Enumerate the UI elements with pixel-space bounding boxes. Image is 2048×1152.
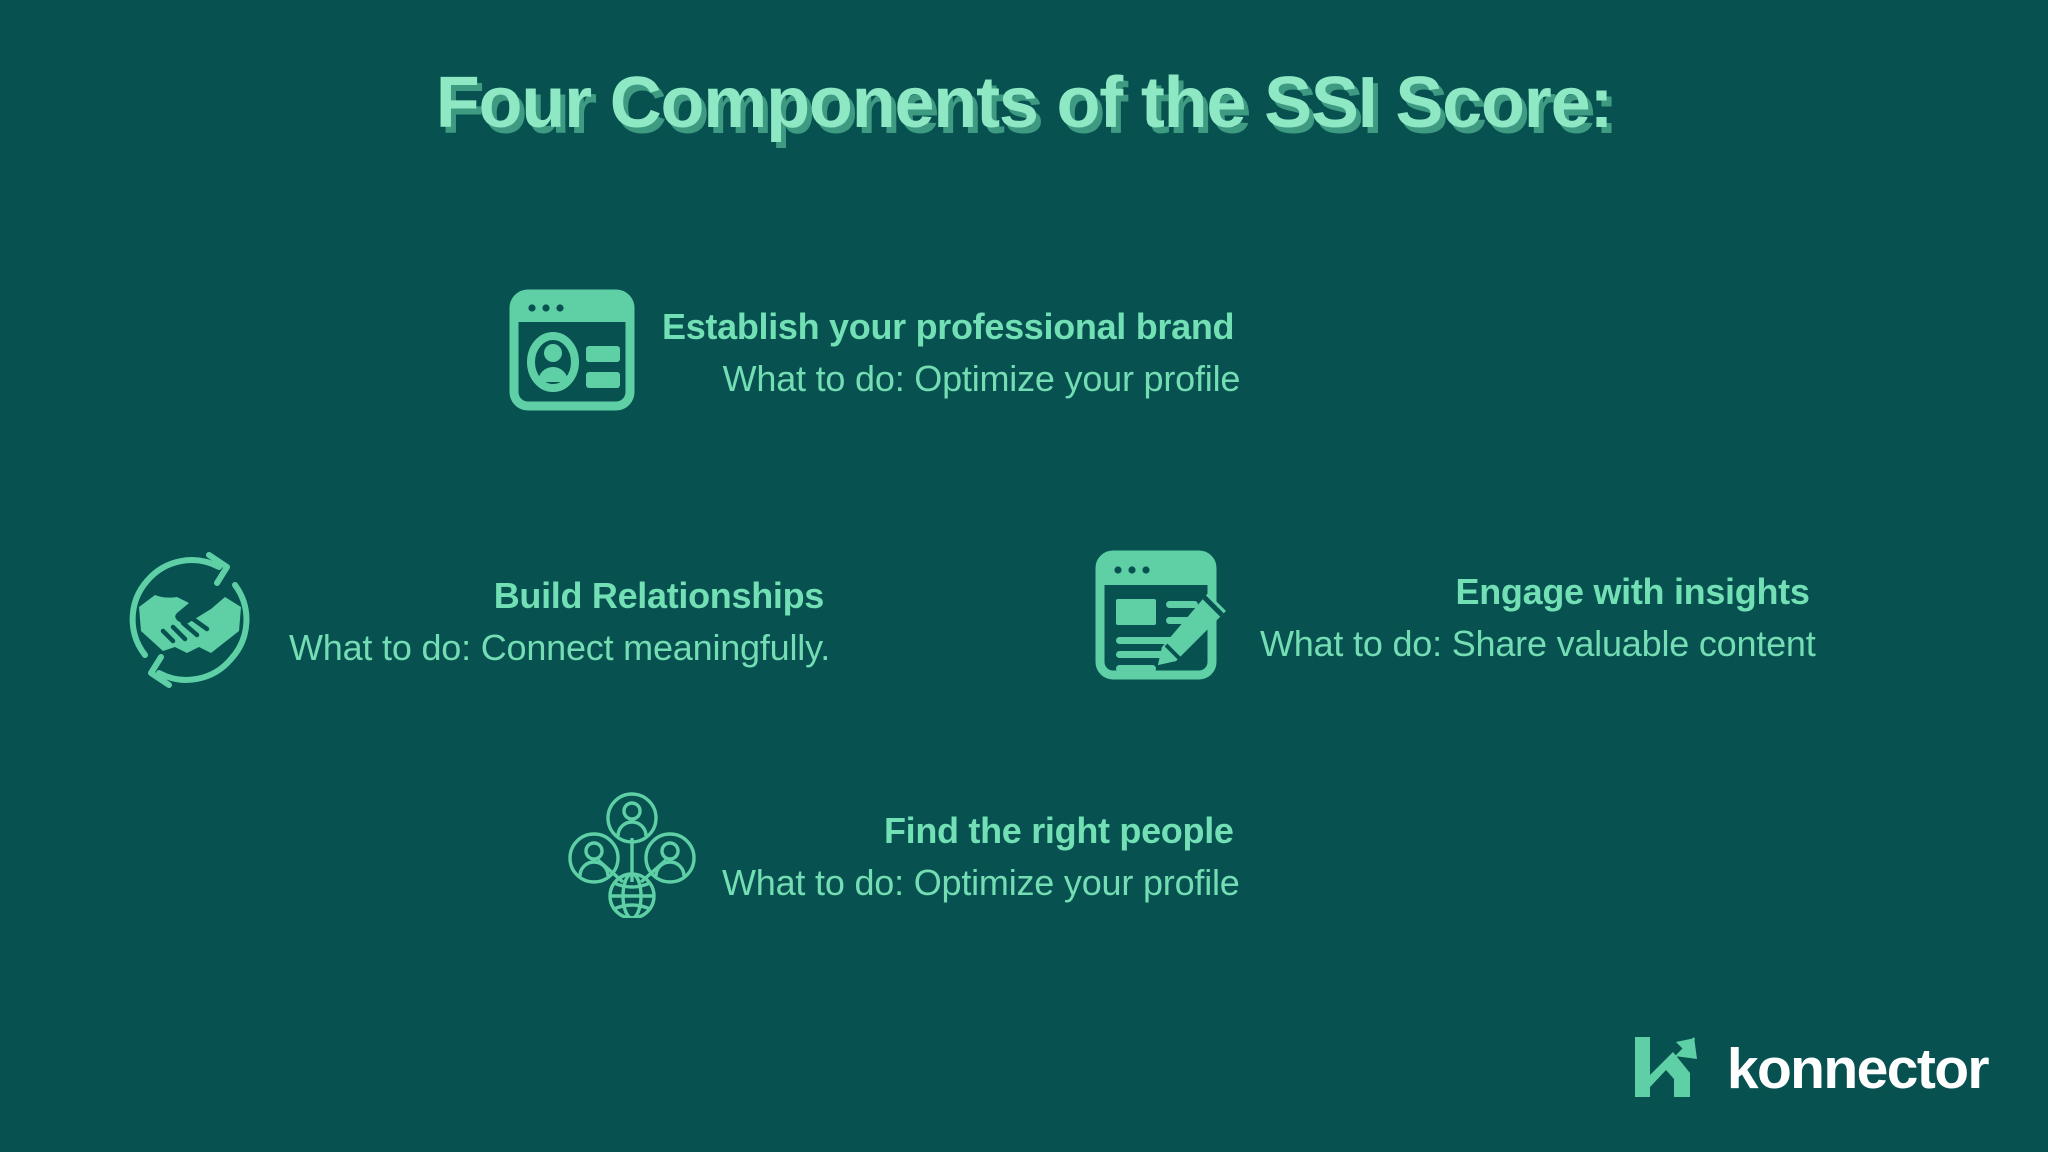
component-subtitle: What to do: Optimize your profile <box>722 865 1240 901</box>
profile-card-icon <box>508 286 636 419</box>
component-find-people: Find the right people What to do: Optimi… <box>568 790 1240 923</box>
component-title: Build Relationships <box>494 578 824 614</box>
network-people-globe-icon <box>568 790 696 923</box>
brand-logo: konnector <box>1633 1035 1988 1104</box>
page-title: Four Components of the SSI Score: <box>0 62 2048 144</box>
component-text-block: Establish your professional brand What t… <box>662 309 1240 397</box>
component-text-block: Engage with insights What to do: Share v… <box>1260 574 1816 662</box>
logo-wordmark: konnector <box>1727 1041 1988 1098</box>
component-text-block: Find the right people What to do: Optimi… <box>722 813 1240 901</box>
article-pencil-icon <box>1094 545 1234 690</box>
component-subtitle: What to do: Connect meaningfully. <box>289 630 830 666</box>
component-title: Establish your professional brand <box>662 309 1234 345</box>
component-build-relationships: Build Relationships What to do: Connect … <box>115 545 830 698</box>
handshake-refresh-icon <box>115 545 263 698</box>
component-engage-insights: Engage with insights What to do: Share v… <box>1094 545 1816 690</box>
component-title: Find the right people <box>884 813 1234 849</box>
component-title: Engage with insights <box>1456 574 1810 610</box>
component-subtitle: What to do: Share valuable content <box>1260 626 1816 662</box>
component-establish-brand: Establish your professional brand What t… <box>508 286 1240 419</box>
component-subtitle: What to do: Optimize your profile <box>723 361 1241 397</box>
component-text-block: Build Relationships What to do: Connect … <box>289 578 830 666</box>
konnector-k-arrow-icon <box>1633 1035 1705 1104</box>
